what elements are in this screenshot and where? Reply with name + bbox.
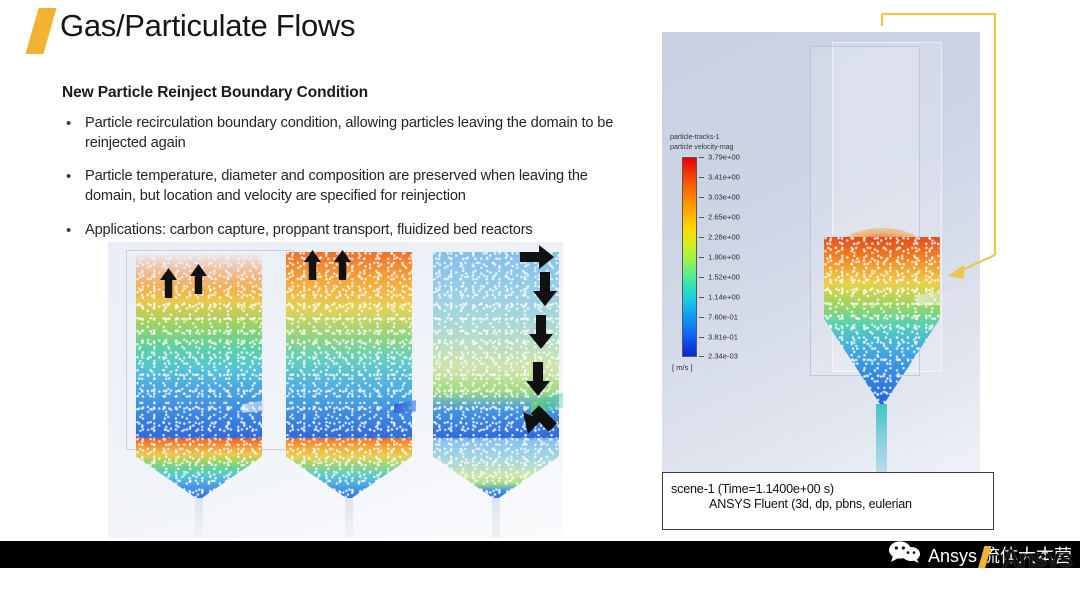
fluent-caption-box: scene-1 (Time=1.1400e+00 s) ANSYS Fluent… [662, 472, 994, 530]
colorbar-tick-label: 1.14e+00 [708, 293, 740, 302]
list-item-label: Applications: carbon capture, proppant t… [85, 222, 533, 238]
particle-cloud-main [824, 237, 940, 407]
colorbar-units-label: [ m/s ] [670, 363, 733, 372]
particle-cloud-body [286, 252, 412, 440]
bullet-dot-icon: • [66, 167, 71, 187]
slide-footer: 32 ©2022 ANSYS, Inc. [0, 568, 1080, 608]
list-item: • Particle temperature, diameter and com… [62, 166, 642, 206]
list-item-label: Particle recirculation boundary conditio… [85, 115, 613, 151]
legend-title-line-1: particle-tracks-1 [670, 132, 733, 142]
outlet-stem [492, 498, 500, 538]
colorbar-tick [699, 337, 704, 338]
colorbar-tick-label: 7.60e-01 [708, 313, 738, 322]
bullet-dot-icon: • [66, 221, 71, 241]
colorbar-wrapper: 3.79e+00 3.41e+00 3.03e+00 2.65e+00 2.28… [670, 157, 733, 357]
fluent-viewport: particle-tracks-1 particle velocity-mag … [662, 32, 980, 472]
page-title: Gas/Particulate Flows [60, 8, 355, 44]
cone-bottom [286, 438, 412, 500]
fluidized-bed-comparison-image [108, 242, 563, 538]
outlet-stem [195, 498, 203, 538]
title-accent-slash-icon [25, 8, 56, 54]
colorbar-tick [699, 237, 704, 238]
colorbar-tick-label: 2.34e-03 [708, 352, 738, 361]
slide-canvas: Gas/Particulate Flows New Particle Reinj… [0, 0, 1080, 608]
list-item-label: Particle temperature, diameter and compo… [85, 168, 588, 204]
colorbar-tick-label: 1.90e+00 [708, 253, 740, 262]
caption-solver-line: ANSYS Fluent (3d, dp, pbns, eulerian [671, 497, 993, 511]
section-subheading: New Particle Reinject Boundary Condition [62, 84, 368, 102]
colorbar-tick-label: 3.81e-01 [708, 333, 738, 342]
particle-speckle-overlay [824, 237, 940, 407]
legend-title-line-2: particle velocity-mag [670, 142, 733, 152]
particle-speckle-overlay [286, 252, 412, 440]
colorbar-tick [699, 356, 704, 357]
particle-speckle-overlay [136, 438, 262, 500]
list-item: • Applications: carbon capture, proppant… [62, 220, 642, 240]
outlet-stem [345, 498, 353, 538]
colorbar-tick [699, 277, 704, 278]
cone-bottom [136, 438, 262, 500]
bullet-dot-icon: • [66, 114, 71, 134]
colorbar-tick-label: 3.79e+00 [708, 153, 740, 162]
colorbar-tick-label: 2.65e+00 [708, 213, 740, 222]
colorbar-tick [699, 297, 704, 298]
outlet-stem [876, 404, 887, 472]
colorbar-tick-label: 3.03e+00 [708, 193, 740, 202]
bullet-list: • Particle recirculation boundary condit… [62, 113, 642, 253]
colorbar-gradient [682, 157, 697, 357]
wechat-logo-icon [888, 541, 922, 568]
colorbar-legend: particle-tracks-1 particle velocity-mag … [670, 132, 733, 372]
colorbar-tick [699, 197, 704, 198]
list-item: • Particle recirculation boundary condit… [62, 113, 642, 153]
colorbar-tick [699, 217, 704, 218]
cone-bottom [433, 438, 559, 500]
colorbar-tick-label: 2.28e+00 [708, 233, 740, 242]
colorbar-tick [699, 317, 704, 318]
colorbar-tick-label: 3.41e+00 [708, 173, 740, 182]
particle-speckle-overlay [286, 438, 412, 500]
colorbar-tick-label: 1.52e+00 [708, 273, 740, 282]
caption-scene-line: scene-1 (Time=1.1400e+00 s) [671, 482, 993, 496]
particle-speckle-overlay [433, 438, 559, 500]
fluidized-bed-column-2 [286, 252, 412, 510]
colorbar-tick [699, 257, 704, 258]
colorbar-tick [699, 177, 704, 178]
colorbar-tick [699, 157, 704, 158]
